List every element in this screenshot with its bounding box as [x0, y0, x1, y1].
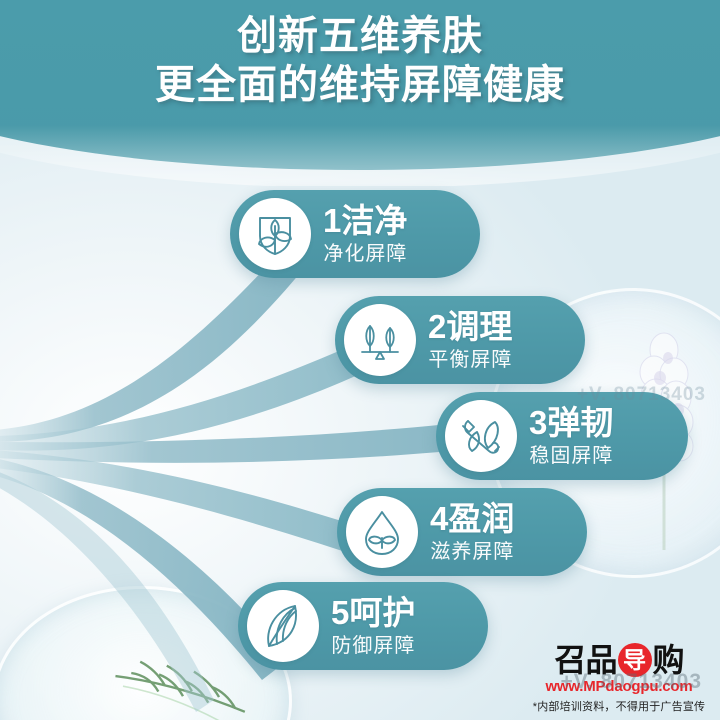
feature-texts-2: 2调理 平衡屏障 — [428, 310, 512, 370]
feature-pill-1[interactable]: 1洁净 净化屏障 — [230, 190, 480, 278]
feature-headline-4: 4盈润 — [430, 502, 514, 535]
feature-pill-4[interactable]: 4盈润 滋养屏障 — [337, 488, 587, 576]
water-drop-leaf-icon — [356, 506, 408, 558]
layered-leaf-icon — [257, 600, 309, 652]
brand-url[interactable]: www.MPdaogpu.com — [526, 678, 712, 695]
title-line-2: 更全面的维持屏障健康 — [0, 63, 720, 108]
feature-sub-3: 稳固屏障 — [529, 446, 613, 466]
brand-watermark: 召品 导 购 www.MPdaogpu.com *内部培训资料，不得用于广告宣传 — [526, 643, 712, 714]
usage-disclaimer: *内部培训资料，不得用于广告宣传 — [526, 698, 712, 714]
feature-sub-2: 平衡屏障 — [428, 350, 512, 370]
feature-headline-5: 5呵护 — [331, 596, 415, 629]
feature-sub-4: 滋养屏障 — [430, 542, 514, 562]
brand-name-part1: 召品 — [554, 644, 616, 676]
feature-headline-2: 2调理 — [428, 310, 512, 343]
page-title: 创新五维养肤 更全面的维持屏障健康 — [0, 14, 720, 108]
feature-texts-5: 5呵护 防御屏障 — [331, 596, 415, 656]
feature-pill-2[interactable]: 2调理 平衡屏障 — [335, 296, 585, 384]
feature-sub-1: 净化屏障 — [323, 244, 407, 264]
feature-texts-1: 1洁净 净化屏障 — [323, 204, 407, 264]
poster-canvas: 创新五维养肤 更全面的维持屏障健康 1洁净 净化屏障 — [0, 0, 720, 720]
shield-plant-icon — [249, 208, 301, 260]
feature-icon-badge-4 — [346, 496, 418, 568]
feature-texts-4: 4盈润 滋养屏障 — [430, 502, 514, 562]
brand-mark-icon: 导 — [618, 643, 652, 677]
feature-icon-badge-3 — [445, 400, 517, 472]
feature-icon-badge-1 — [239, 198, 311, 270]
feature-icon-badge-2 — [344, 304, 416, 376]
feature-sub-5: 防御屏障 — [331, 636, 415, 656]
feature-texts-3: 3弹韧 稳固屏障 — [529, 406, 613, 466]
feature-pill-5[interactable]: 5呵护 防御屏障 — [238, 582, 488, 670]
feature-pill-3[interactable]: 3弹韧 稳固屏障 — [436, 392, 688, 480]
brand-logo: 召品 导 购 — [526, 643, 712, 677]
feature-icon-badge-5 — [247, 590, 319, 662]
feature-headline-1: 1洁净 — [323, 204, 407, 237]
balance-scale-leaf-icon — [354, 314, 406, 366]
brand-name-part2: 购 — [653, 644, 684, 676]
wrench-leaf-icon — [455, 410, 507, 462]
feature-headline-3: 3弹韧 — [529, 406, 613, 439]
title-line-1: 创新五维养肤 — [0, 14, 720, 59]
